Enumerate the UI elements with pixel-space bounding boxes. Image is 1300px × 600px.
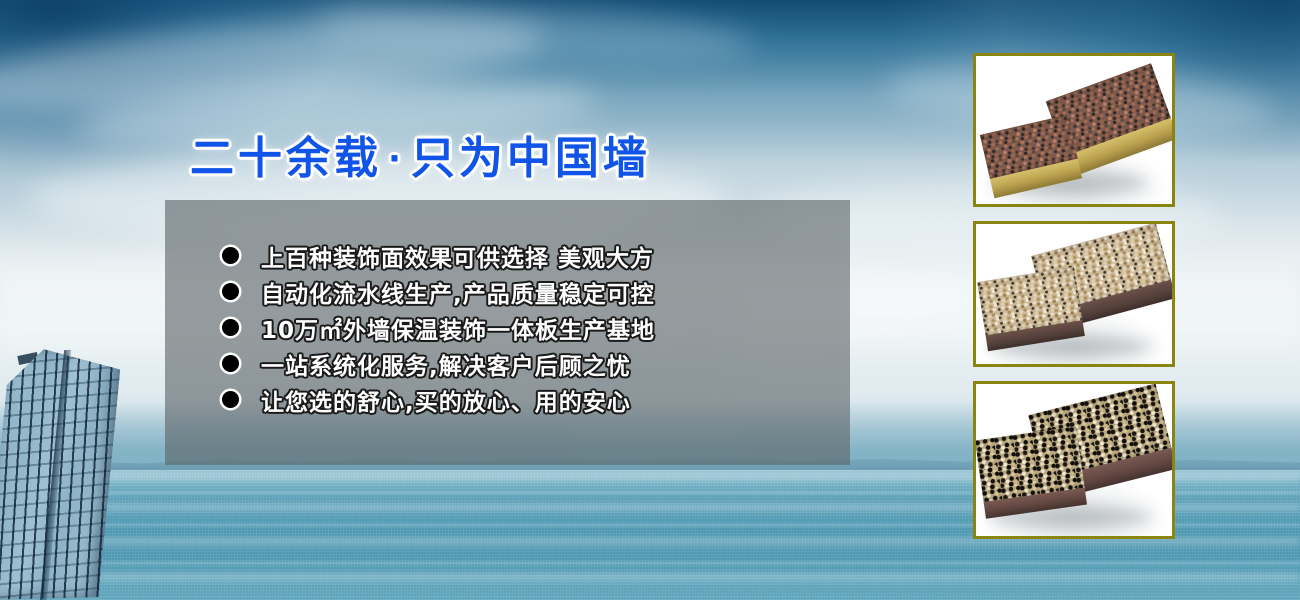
panel-slab-lower	[976, 426, 1087, 518]
product-photo-speckled-granite	[976, 384, 1172, 536]
wave-crest	[0, 574, 1300, 588]
list-item-label: 10万㎡外墙保温装饰一体板生产基地	[261, 311, 655, 345]
bullet-dot-icon	[222, 355, 239, 372]
headline-separator-dot: ·	[382, 139, 411, 179]
headline-right: 只为中国墙	[411, 133, 651, 184]
headline-left: 二十余载	[190, 133, 382, 184]
list-item-label: 一站系统化服务,解决客户后顾之忧	[261, 347, 631, 381]
features-list: 上百种装饰面效果可供选择 美观大方 自动化流水线生产,产品质量稳定可控 10万㎡…	[222, 238, 862, 418]
product-image-frame-3[interactable]	[973, 381, 1175, 539]
bullet-dot-icon	[222, 283, 239, 300]
list-item-label: 自动化流水线生产,产品质量稳定可控	[261, 275, 655, 309]
promo-banner: 二十余载·只为中国墙 上百种装饰面效果可供选择 美观大方 自动化流水线生产,产品…	[0, 0, 1300, 600]
list-item-label: 上百种装饰面效果可供选择 美观大方	[261, 239, 654, 273]
wave-crest	[0, 538, 1300, 552]
list-item: 自动化流水线生产,产品质量稳定可控	[222, 274, 862, 309]
list-item-label: 让您选的舒心,买的放心、用的安心	[261, 383, 631, 417]
product-photo-red-granite	[976, 56, 1172, 204]
product-photo-beige-granite	[976, 224, 1172, 364]
product-image-frame-1[interactable]	[973, 53, 1175, 207]
wave-line	[0, 562, 1300, 564]
list-item: 一站系统化服务,解决客户后顾之忧	[222, 346, 862, 381]
list-item: 10万㎡外墙保温装饰一体板生产基地	[222, 310, 862, 345]
product-image-frame-2[interactable]	[973, 221, 1175, 367]
bullet-dot-icon	[222, 319, 239, 336]
list-item: 让您选的舒心,买的放心、用的安心	[222, 382, 862, 417]
list-item: 上百种装饰面效果可供选择 美观大方	[222, 238, 862, 273]
page-title: 二十余载·只为中国墙	[190, 122, 651, 186]
bullet-dot-icon	[222, 247, 239, 264]
bullet-dot-icon	[222, 391, 239, 408]
